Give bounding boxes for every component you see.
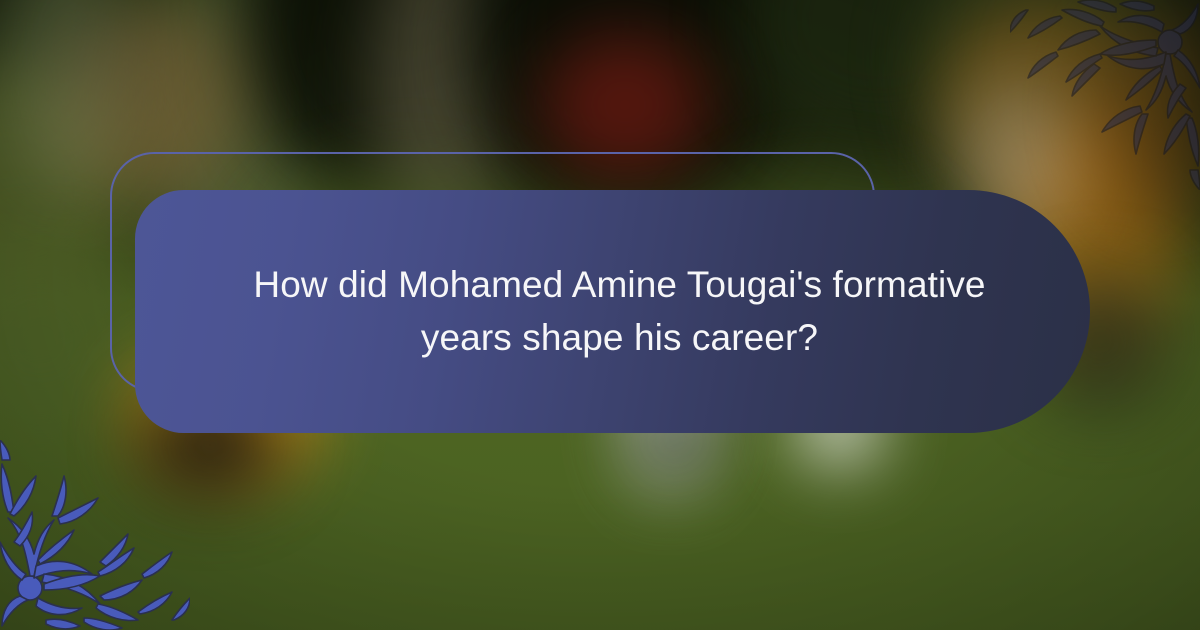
share-card-canvas: How did Mohamed Amine Tougai's formative… xyxy=(0,0,1200,630)
question-card: How did Mohamed Amine Tougai's formative… xyxy=(135,190,1090,433)
question-title: How did Mohamed Amine Tougai's formative… xyxy=(225,259,1015,364)
